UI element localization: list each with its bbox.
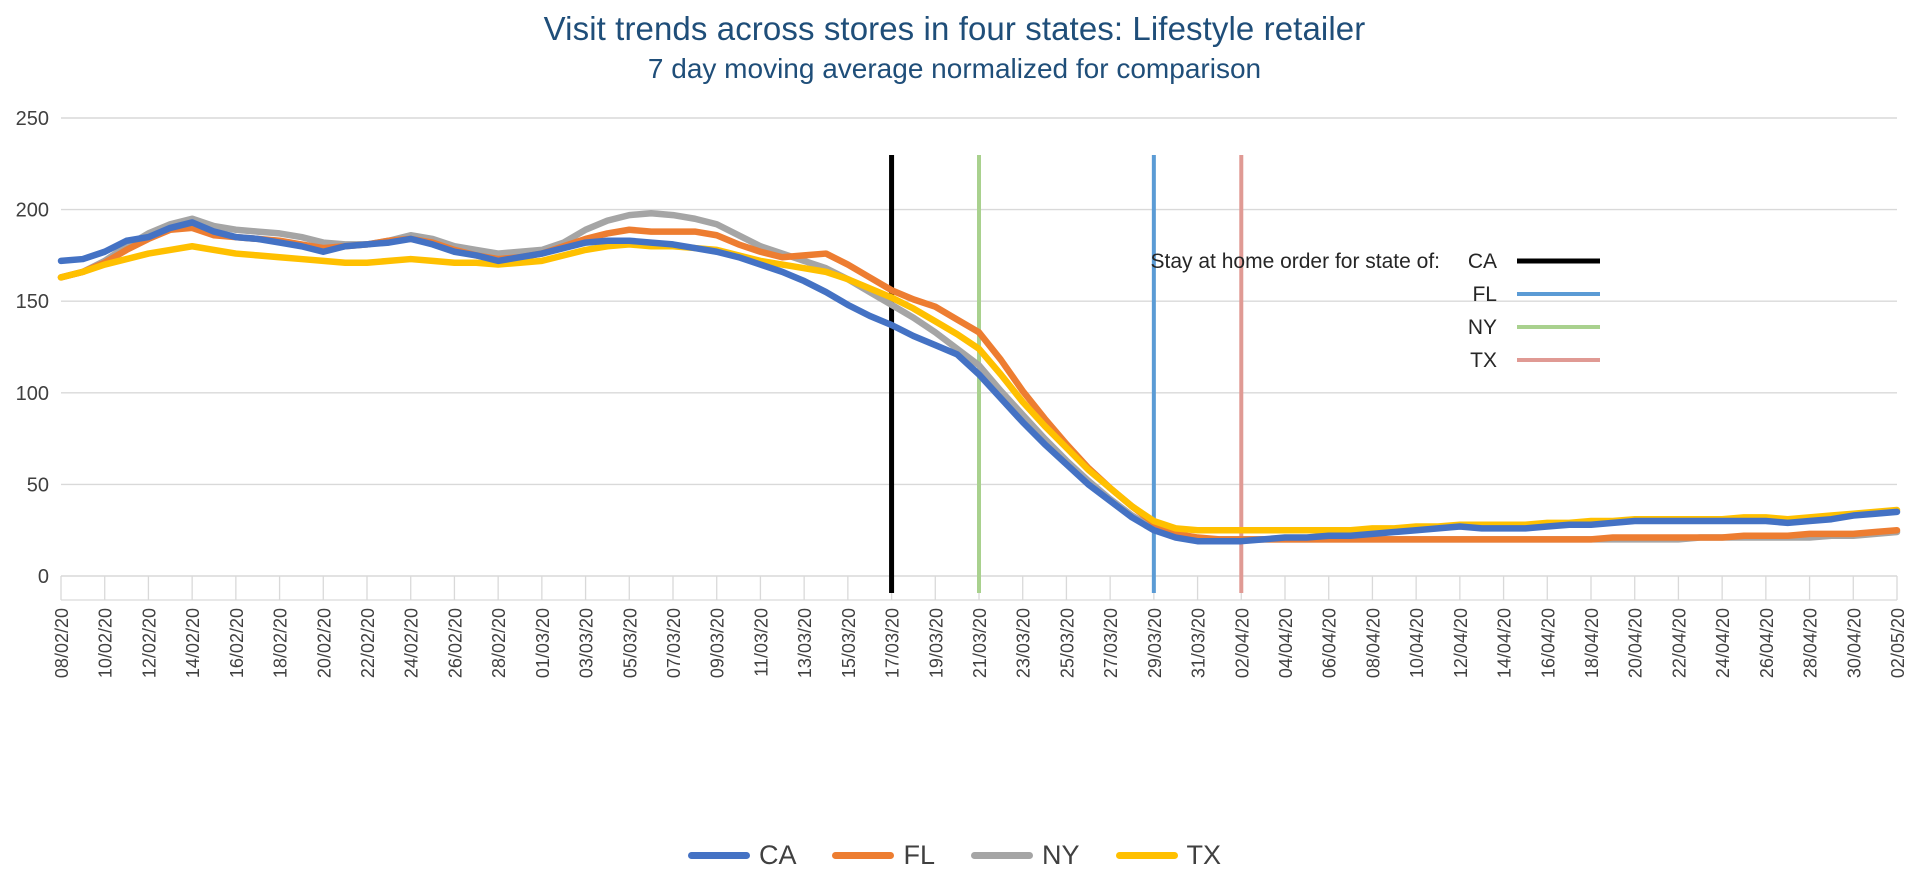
x-axis-tick-label: 08/04/20 xyxy=(1363,608,1383,678)
legend-label-tx: TX xyxy=(1187,840,1222,871)
x-axis-tick-label: 28/02/20 xyxy=(489,608,509,678)
x-axis-tick-label: 21/03/20 xyxy=(970,608,990,678)
x-axis-tick-label: 22/02/20 xyxy=(358,608,378,678)
stay-at-home-annotation-label: Stay at home order for state of: xyxy=(1151,250,1440,273)
x-axis-tick-label: 22/04/20 xyxy=(1669,608,1689,678)
x-axis-tick-label: 20/02/20 xyxy=(314,608,334,678)
x-axis-tick-label: 23/03/20 xyxy=(1014,608,1034,678)
x-axis-tick-label: 26/04/20 xyxy=(1757,608,1777,678)
x-axis-tick-label: 12/04/20 xyxy=(1451,608,1471,678)
series-legend: CAFLNYTX xyxy=(0,840,1909,871)
legend-label-ny: NY xyxy=(1042,840,1080,871)
x-axis-tick-label: 14/04/20 xyxy=(1495,608,1515,678)
x-axis-tick-label: 17/03/20 xyxy=(883,608,903,678)
x-axis-tick-label: 20/04/20 xyxy=(1626,608,1646,678)
x-axis-tick-label: 12/02/20 xyxy=(139,608,159,678)
y-axis-tick-label: 100 xyxy=(16,383,49,405)
y-axis-tick-label: 50 xyxy=(27,474,49,496)
stay-at-home-legend-label-ny: NY xyxy=(1468,316,1497,339)
x-axis-tick-label: 24/02/20 xyxy=(402,608,422,678)
x-axis-tick-label: 16/02/20 xyxy=(227,608,247,678)
x-axis-tick-label: 24/04/20 xyxy=(1713,608,1733,678)
stay-at-home-legend-label-fl: FL xyxy=(1472,283,1497,306)
stay-at-home-legend-label-ca: CA xyxy=(1468,250,1497,273)
legend-swatch-fl-icon xyxy=(832,852,894,859)
x-axis-tick-label: 01/03/20 xyxy=(533,608,553,678)
x-axis-tick-label: 03/03/20 xyxy=(577,608,597,678)
x-axis-tick-label: 08/02/20 xyxy=(52,608,72,678)
x-axis-tick-label: 26/02/20 xyxy=(445,608,465,678)
x-axis-tick-label: 10/02/20 xyxy=(96,608,116,678)
x-axis-tick-label: 02/04/20 xyxy=(1232,608,1252,678)
x-axis-tick-label: 11/03/20 xyxy=(751,608,771,677)
plot-area: 05010015020025008/02/2010/02/2012/02/201… xyxy=(0,0,1909,887)
y-axis-tick-label: 0 xyxy=(38,566,49,588)
x-axis-tick-label: 05/03/20 xyxy=(620,608,640,678)
x-axis-tick-label: 29/03/20 xyxy=(1145,608,1165,678)
legend-item-ny[interactable]: NY xyxy=(971,840,1080,871)
x-axis-tick-label: 18/02/20 xyxy=(271,608,291,678)
x-axis-tick-label: 10/04/20 xyxy=(1407,608,1427,678)
x-axis-tick-label: 16/04/20 xyxy=(1538,608,1558,678)
x-axis-tick-label: 02/05/20 xyxy=(1888,608,1908,678)
legend-swatch-ca-icon xyxy=(688,852,750,859)
x-axis-tick-label: 28/04/20 xyxy=(1801,608,1821,678)
x-axis-tick-label: 18/04/20 xyxy=(1582,608,1602,678)
legend-item-fl[interactable]: FL xyxy=(832,840,935,871)
x-axis-tick-label: 31/03/20 xyxy=(1189,608,1209,678)
x-axis-tick-label: 07/03/20 xyxy=(664,608,684,678)
legend-item-ca[interactable]: CA xyxy=(688,840,797,871)
legend-label-ca: CA xyxy=(759,840,797,871)
stay-at-home-legend-label-tx: TX xyxy=(1470,349,1497,372)
legend-swatch-tx-icon xyxy=(1116,852,1178,859)
legend-swatch-ny-icon xyxy=(971,852,1033,859)
x-axis-tick-label: 27/03/20 xyxy=(1101,608,1121,678)
x-axis-tick-label: 30/04/20 xyxy=(1844,608,1864,678)
y-axis-tick-label: 200 xyxy=(16,200,49,222)
x-axis-tick-label: 13/03/20 xyxy=(795,608,815,678)
x-axis-tick-label: 06/04/20 xyxy=(1320,608,1340,678)
x-axis-tick-label: 14/02/20 xyxy=(183,608,203,678)
chart-container: Visit trends across stores in four state… xyxy=(0,0,1909,887)
x-axis-tick-label: 09/03/20 xyxy=(708,608,728,678)
legend-item-tx[interactable]: TX xyxy=(1116,840,1222,871)
y-axis-tick-label: 150 xyxy=(16,291,49,313)
x-axis-tick-label: 19/03/20 xyxy=(926,608,946,678)
x-axis-tick-label: 15/03/20 xyxy=(839,608,859,678)
y-axis-tick-label: 250 xyxy=(16,108,49,130)
legend-label-fl: FL xyxy=(903,840,935,871)
x-axis-tick-label: 25/03/20 xyxy=(1057,608,1077,678)
x-axis-tick-label: 04/04/20 xyxy=(1276,608,1296,678)
